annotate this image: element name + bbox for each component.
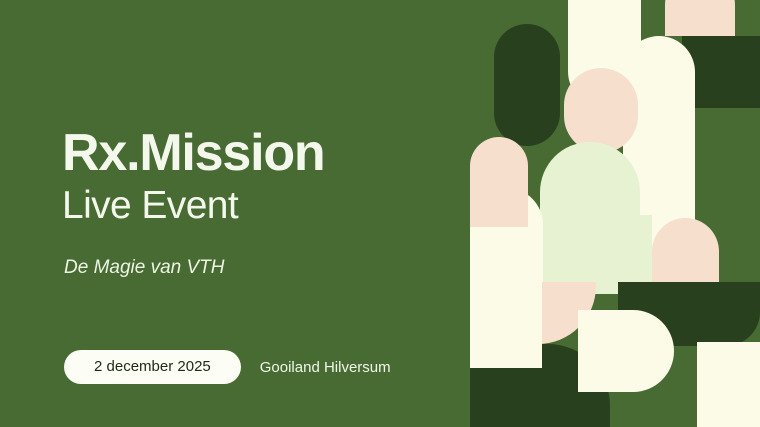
event-venue-label: Gooiland Hilversum (260, 360, 391, 375)
event-date-badge: 2 december 2025 (64, 350, 241, 384)
circle-peach-mid-left (564, 68, 638, 153)
decorative-shapes-pattern (470, 0, 760, 427)
block-cream-bottom-right (697, 342, 760, 427)
event-meta-row: 2 december 2025 Gooiland Hilversum (64, 350, 391, 384)
capsule-peach-lower-left (470, 137, 528, 227)
page-subtitle: Live Event (62, 186, 238, 225)
event-banner: Rx.Mission Live Event De Magie van VTH 2… (0, 0, 760, 427)
halfdome-peach-top (665, 0, 735, 36)
capsule-cream-bottom-arc (578, 310, 674, 392)
hero-text-column: Rx.Mission Live Event De Magie van VTH 2… (0, 0, 470, 427)
arch-dark-green-top-left (494, 24, 560, 146)
scurve-cream-bottom (470, 278, 542, 368)
page-title: Rx.Mission (62, 127, 325, 179)
tagline: De Magie van VTH (64, 258, 225, 277)
